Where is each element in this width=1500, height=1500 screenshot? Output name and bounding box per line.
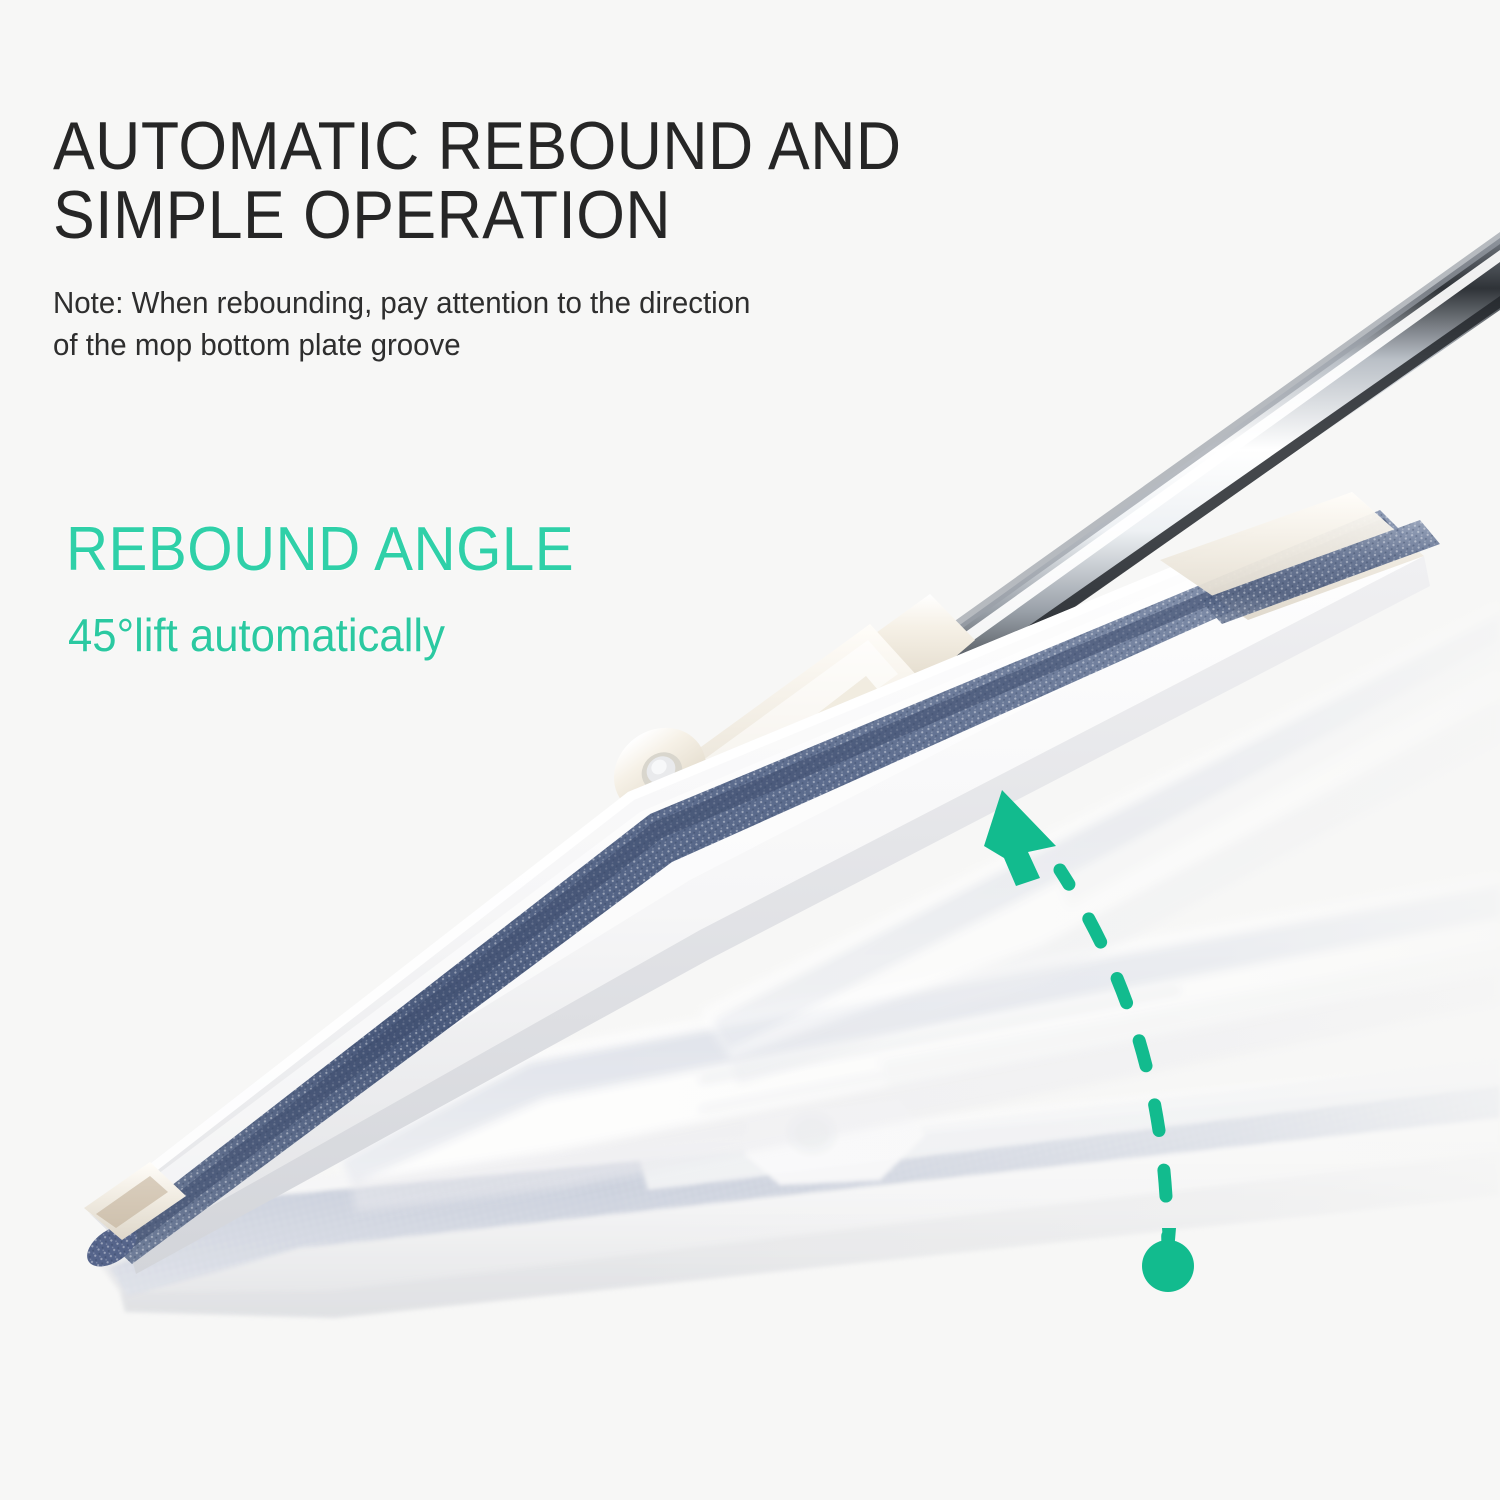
page-title: AUTOMATIC REBOUND AND SIMPLE OPERATION bbox=[53, 112, 1083, 251]
note-text: Note: When rebounding, pay attention to … bbox=[53, 282, 1003, 366]
product-infographic: AUTOMATIC REBOUND AND SIMPLE OPERATION N… bbox=[0, 0, 1500, 1500]
feature-subtitle: 45°lift automatically bbox=[68, 612, 445, 658]
feature-title: REBOUND ANGLE bbox=[66, 519, 574, 581]
